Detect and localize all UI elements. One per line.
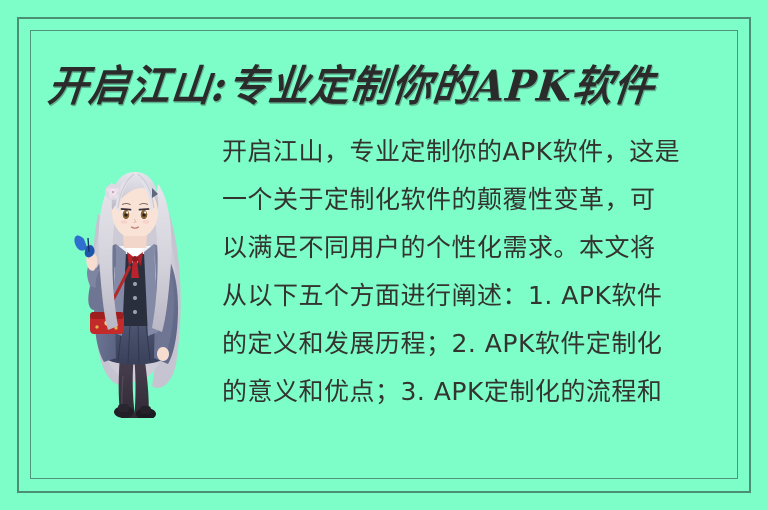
hand-right bbox=[157, 347, 169, 361]
body-line: 的定义和发展历程；2. APK软件定制化 bbox=[222, 320, 740, 368]
poster-canvas: 开启江山:专业定制你的APK软件 bbox=[0, 0, 768, 510]
body-line: 一个关于定制化软件的颠覆性变革，可 bbox=[222, 176, 740, 224]
ribbon-knot bbox=[132, 256, 138, 262]
body-paragraph: 开启江山，专业定制你的APK软件，这是 一个关于定制化软件的颠覆性变革，可 以满… bbox=[222, 128, 740, 416]
body-line: 从以下五个方面进行阐述：1. APK软件 bbox=[222, 272, 740, 320]
character-illustration bbox=[60, 126, 210, 418]
page-title: 开启江山:专业定制你的APK软件 bbox=[45, 58, 651, 117]
body-line: 的意义和优点；3. APK定制化的流程和 bbox=[222, 368, 740, 416]
butterfly-icon bbox=[74, 235, 94, 257]
neck bbox=[123, 236, 147, 248]
body-line: 以满足不同用户的个性化需求。本文将 bbox=[222, 224, 740, 272]
body-line: 开启江山，专业定制你的APK软件，这是 bbox=[222, 128, 740, 176]
